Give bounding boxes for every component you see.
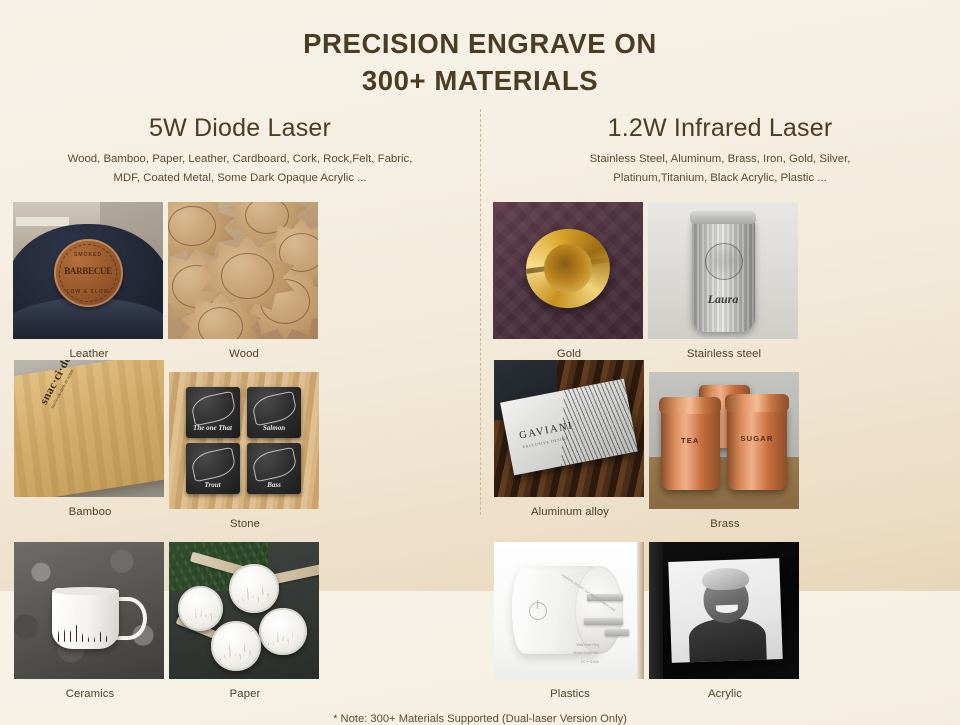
plug-engraved-certs: FC ✃ E-link (581, 660, 599, 664)
material-tile-gold[interactable]: Gold (493, 202, 645, 360)
material-caption-plastics: Plastics (494, 679, 646, 700)
photo-stainless-tumbler: Laura (648, 202, 798, 339)
material-caption-bamboo: Bamboo (14, 497, 166, 518)
page-header: PRECISION ENGRAVE ON 300+ MATERIALS (0, 0, 960, 99)
photo-brass-canisters: TEA SUGAR (649, 372, 799, 509)
column-desc-diode-line-1: Wood, Bamboo, Paper, Leather, Cardboard,… (30, 150, 450, 169)
material-tile-plastics[interactable]: Input100-250VAC 10A Resistive Max Load W… (494, 542, 646, 700)
page-title-line-2: 300+ MATERIALS (0, 63, 960, 100)
footer-note: * Note: 300+ Materials Supported (Dual-l… (0, 713, 960, 725)
material-tile-bamboo[interactable]: snac·ci·dent smile-ak-duh-nt noun Bamboo (14, 360, 166, 530)
column-divider (480, 109, 481, 515)
photo-bamboo-board: snac·ci·dent smile-ak-duh-nt noun (14, 360, 164, 497)
photo-ceramic-mug (14, 542, 164, 679)
column-title-infrared: 1.2W Infrared Laser (492, 113, 948, 143)
material-tile-leather[interactable]: SMOKED BARBECUE LOW & SLOW Leather (13, 202, 165, 360)
material-caption-stainless-steel: Stainless steel (648, 339, 800, 360)
material-tile-wood[interactable]: Wood (168, 202, 320, 360)
photo-wood-coasters (168, 202, 318, 339)
slate-text-2: Salmon (247, 424, 301, 432)
column-desc-infrared-line-2: Platinum,Titanium, Black Acrylic, Plasti… (510, 169, 930, 188)
slate-text-4: Bass (247, 481, 301, 489)
material-grid-diode: SMOKED BARBECUE LOW & SLOW Leather (12, 202, 468, 700)
material-caption-aluminum-alloy: Aluminum alloy (494, 497, 646, 518)
material-caption-ceramics: Ceramics (14, 679, 166, 700)
column-desc-infrared-line-1: Stainless Steel, Aluminum, Brass, Iron, … (510, 150, 930, 169)
photo-plastic-smart-plug: Input100-250VAC 10A Resistive Max Load W… (494, 542, 644, 679)
infographic-page: PRECISION ENGRAVE ON 300+ MATERIALS 5W D… (0, 0, 960, 591)
material-tile-aluminum-alloy[interactable]: GAVIANI EXCLUSIVE DESIGN Aluminum alloy (494, 360, 646, 530)
material-caption-gold: Gold (493, 339, 645, 360)
column-desc-diode-line-2: MDF, Coated Metal, Some Dark Opaque Acry… (30, 169, 450, 188)
photo-stone-coasters: The one That Salmon Trout Bass (169, 372, 319, 509)
photo-aluminum-card: GAVIANI EXCLUSIVE DESIGN (494, 360, 644, 497)
tumbler-engraved-name: Laura (648, 292, 798, 307)
material-tile-paper[interactable]: Paper (169, 542, 321, 700)
column-title-diode: 5W Diode Laser (12, 113, 468, 143)
photo-gold-ring (493, 202, 643, 339)
material-caption-acrylic: Acrylic (649, 679, 801, 700)
column-diode-laser: 5W Diode Laser Wood, Bamboo, Paper, Leat… (0, 113, 480, 700)
patch-bottom-text: LOW & SLOW (54, 289, 123, 295)
tree-of-life-icon (705, 243, 743, 281)
slate-text-3: Trout (186, 481, 240, 489)
material-grid-infrared: Gold Laura Stainless steel (492, 202, 948, 700)
canister-label-tea: TEA (661, 436, 720, 445)
material-tile-brass[interactable]: TEA SUGAR Brass (649, 372, 801, 530)
photo-leather-cap: SMOKED BARBECUE LOW & SLOW (13, 202, 163, 339)
page-title-line-1: PRECISION ENGRAVE ON (0, 26, 960, 63)
plug-engraved-model: Model:Driver-W1 (574, 651, 599, 655)
material-caption-leather: Leather (13, 339, 165, 360)
photo-paper-ornaments (169, 542, 319, 679)
canister-label-sugar: SUGAR (727, 434, 787, 443)
material-tile-stainless-steel[interactable]: Laura Stainless steel (648, 202, 800, 360)
material-caption-paper: Paper (169, 679, 321, 700)
plug-engraved-brand: WinDriver Plug (577, 643, 600, 647)
material-caption-wood: Wood (168, 339, 320, 360)
material-tile-stone[interactable]: The one That Salmon Trout Bass (169, 372, 321, 530)
material-caption-brass: Brass (649, 509, 801, 530)
patch-main-text: BARBECUE (54, 266, 123, 276)
photo-acrylic-portrait (649, 542, 799, 679)
patch-top-text: SMOKED (54, 252, 123, 258)
column-infrared-laser: 1.2W Infrared Laser Stainless Steel, Alu… (480, 113, 960, 700)
slate-text-1: The one That (186, 424, 240, 432)
laser-columns: 5W Diode Laser Wood, Bamboo, Paper, Leat… (0, 113, 960, 700)
material-tile-acrylic[interactable]: Acrylic (649, 542, 801, 700)
material-tile-ceramics[interactable]: Ceramics (14, 542, 166, 700)
material-caption-stone: Stone (169, 509, 321, 530)
